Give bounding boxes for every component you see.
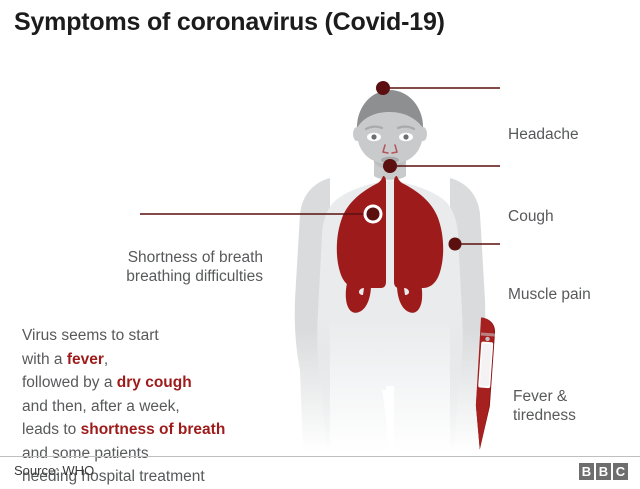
dot-shortness-of-breath [367,208,380,221]
para-line-2-post: , [104,351,108,368]
highlight-dry-cough: dry cough [117,374,192,391]
dot-cough [383,159,397,173]
page-title: Symptoms of coronavirus (Covid-19) [14,8,445,37]
highlight-fever: fever [67,351,104,368]
para-line-2-pre: with a [22,351,67,368]
dot-headache [376,81,390,95]
label-cough: Cough [508,207,554,226]
source-text: Source: WHO [14,463,94,478]
bbc-logo-letter-1: B [579,463,594,480]
dot-muscle-pain [449,238,462,251]
infographic-stage: Headache Cough Muscle pain Fever & tired… [0,50,640,452]
body-silhouette [295,90,486,452]
label-fever-tiredness: Fever & tiredness [513,387,576,425]
bbc-logo-letter-3: C [613,463,628,480]
para-line-1: Virus seems to start [22,327,159,344]
para-line-5-pre: leads to [22,421,81,438]
label-shortness-of-breath: Shortness of breath breathing difficulti… [20,248,263,286]
label-muscle-pain: Muscle pain [508,285,591,304]
footer-divider [0,456,640,457]
bbc-logo-letter-2: B [596,463,611,480]
bbc-logo: B B C [579,463,628,480]
para-line-6: and some patients [22,445,149,462]
para-line-3-pre: followed by a [22,374,117,391]
label-headache: Headache [508,125,579,144]
highlight-shortness-of-breath: shortness of breath [81,421,226,438]
para-line-4: and then, after a week, [22,398,180,415]
